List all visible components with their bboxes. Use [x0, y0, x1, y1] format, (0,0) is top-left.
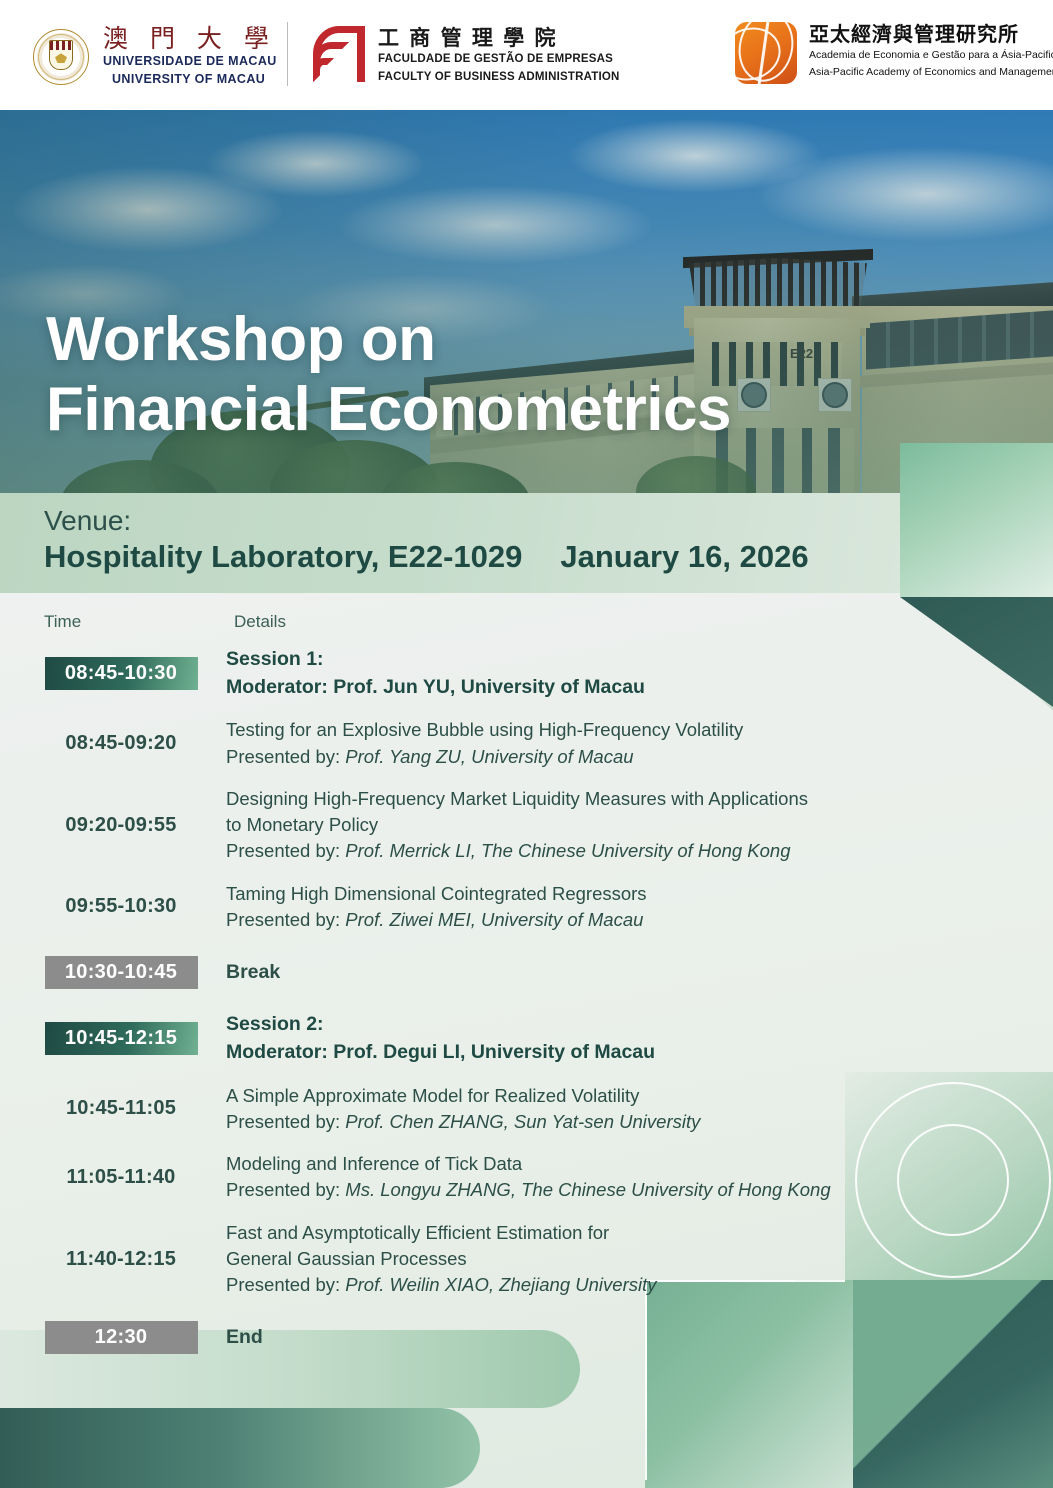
- logo-university-of-macau: 澳 門 大 學 UNIVERSIDADE DE MACAU UNIVERSITY…: [33, 26, 277, 89]
- row-details-cell: Taming High Dimensional Cointegrated Reg…: [226, 881, 1053, 934]
- row-details-cell: Modeling and Inference of Tick DataPrese…: [226, 1151, 1053, 1204]
- talk-presenter: Presented by: Prof. Chen ZHANG, Sun Yat-…: [226, 1109, 1023, 1135]
- row-spacer: [0, 933, 1053, 949]
- talk-presenter: Presented by: Ms. Longyu ZHANG, The Chin…: [226, 1177, 1023, 1203]
- table-row: 08:45-10:30Session 1:Moderator: Prof. Ju…: [0, 646, 1053, 701]
- session-moderator: Moderator: Prof. Degui LI, University of…: [226, 1039, 1023, 1067]
- venue-place: Hospitality Laboratory, E22-1029: [44, 539, 522, 575]
- header-logo-bar: 澳 門 大 學 UNIVERSIDADE DE MACAU UNIVERSITY…: [0, 0, 1053, 110]
- talk-time: 11:05-11:40: [67, 1166, 176, 1189]
- row-details-cell: Break: [226, 961, 1053, 984]
- row-time-cell: 08:45-09:20: [36, 732, 206, 755]
- session-moderator: Moderator: Prof. Jun YU, University of M…: [226, 674, 1023, 702]
- session-time-badge: 08:45-10:30: [45, 657, 198, 690]
- break-label: End: [226, 1326, 1023, 1349]
- venue-label: Venue:: [44, 505, 131, 537]
- row-spacer: [0, 1135, 1053, 1151]
- apaem-logo-portuguese: Academia de Economia e Gestão para a Ási…: [809, 47, 1053, 64]
- presented-by-label: Presented by:: [226, 840, 345, 861]
- row-time-cell: 11:40-12:15: [36, 1248, 206, 1271]
- row-time-cell: 12:30: [36, 1321, 206, 1354]
- column-header-time: Time: [44, 612, 214, 632]
- talk-title: Designing High-Frequency Market Liquidit…: [226, 786, 1023, 812]
- row-details-cell: End: [226, 1326, 1053, 1349]
- break-label: Break: [226, 961, 1023, 984]
- header-divider: [287, 22, 288, 86]
- session-time-badge: 10:45-12:15: [45, 1022, 198, 1055]
- row-spacer: [0, 701, 1053, 717]
- apaem-logo-english: Asia-Pacific Academy of Economics and Ma…: [809, 64, 1053, 81]
- talk-presenter: Presented by: Prof. Yang ZU, University …: [226, 744, 1023, 770]
- row-time-cell: 11:05-11:40: [36, 1166, 206, 1189]
- row-details-cell: A Simple Approximate Model for Realized …: [226, 1083, 1053, 1136]
- talk-presenter: Presented by: Prof. Weilin XIAO, Zhejian…: [226, 1272, 1023, 1298]
- apaem-globe-icon: [735, 22, 797, 84]
- presented-by-label: Presented by:: [226, 746, 345, 767]
- row-time-cell: 10:30-10:45: [36, 956, 206, 989]
- presenter-name-affiliation: Prof. Merrick LI, The Chinese University…: [345, 840, 790, 861]
- row-time-cell: 08:45-10:30: [36, 657, 206, 690]
- um-logo-english: UNIVERSITY OF MACAU: [112, 70, 277, 88]
- um-logo-chinese: 澳 門 大 學: [103, 26, 277, 52]
- talk-title-continued: General Gaussian Processes: [226, 1246, 1023, 1272]
- row-spacer: [0, 1067, 1053, 1083]
- row-details-cell: Designing High-Frequency Market Liquidit…: [226, 786, 1053, 865]
- logo-asia-pacific-academy: 亞太經濟與管理研究所 Academia de Economia e Gestão…: [735, 22, 1053, 84]
- presenter-name-affiliation: Ms. Longyu ZHANG, The Chinese University…: [345, 1179, 830, 1200]
- table-row: 09:55-10:30Taming High Dimensional Coint…: [0, 881, 1053, 934]
- table-row: 11:40-12:15Fast and Asymptotically Effic…: [0, 1220, 1053, 1299]
- fba-bar: [357, 26, 365, 82]
- venue-band: Venue: Hospitality Laboratory, E22-1029 …: [0, 493, 1053, 593]
- logo-faculty-of-business-administration: 工 商 管 理 學 院 FACULDADE DE GESTÃO DE EMPRE…: [313, 26, 620, 87]
- session-title: Session 1:: [226, 646, 1023, 674]
- presented-by-label: Presented by:: [226, 909, 345, 930]
- table-row: 10:45-11:05A Simple Approximate Model fo…: [0, 1083, 1053, 1136]
- fba-logo-chinese: 工 商 管 理 學 院: [378, 26, 620, 51]
- row-details-cell: Fast and Asymptotically Efficient Estima…: [226, 1220, 1053, 1299]
- row-time-cell: 10:45-11:05: [36, 1097, 206, 1120]
- talk-title: Taming High Dimensional Cointegrated Reg…: [226, 881, 1023, 907]
- break-time-badge: 12:30: [45, 1321, 198, 1354]
- page-title-line-1: Workshop on: [46, 305, 731, 375]
- presenter-name-affiliation: Prof. Yang ZU, University of Macau: [345, 746, 633, 767]
- row-spacer: [0, 770, 1053, 786]
- talk-title: Fast and Asymptotically Efficient Estima…: [226, 1220, 1023, 1246]
- table-row: 11:05-11:40Modeling and Inference of Tic…: [0, 1151, 1053, 1204]
- table-row: 10:30-10:45Break: [0, 949, 1053, 995]
- page-title: Workshop on Financial Econometrics: [46, 305, 731, 445]
- fba-arcs-icon: [313, 26, 365, 82]
- table-row: 10:45-12:15Session 2:Moderator: Prof. De…: [0, 1011, 1053, 1066]
- decoration-square-hero: [900, 443, 1053, 597]
- table-row: 08:45-09:20Testing for an Explosive Bubb…: [0, 717, 1053, 770]
- talk-presenter: Presented by: Prof. Merrick LI, The Chin…: [226, 838, 1023, 864]
- schedule-header-row: Time Details: [0, 612, 1053, 646]
- table-row: 09:20-09:55Designing High-Frequency Mark…: [0, 786, 1053, 865]
- row-spacer: [0, 1298, 1053, 1314]
- presented-by-label: Presented by:: [226, 1179, 345, 1200]
- presented-by-label: Presented by:: [226, 1274, 345, 1295]
- venue-details: Hospitality Laboratory, E22-1029 January…: [44, 539, 809, 575]
- row-time-cell: 10:45-12:15: [36, 1022, 206, 1055]
- apaem-logo-chinese: 亞太經濟與管理研究所: [809, 22, 1053, 47]
- fba-logo-english: FACULTY OF BUSINESS ADMINISTRATION: [378, 69, 620, 87]
- talk-title-continued: to Monetary Policy: [226, 812, 1023, 838]
- table-row: 12:30End: [0, 1314, 1053, 1360]
- fba-arc-inner: [313, 58, 334, 82]
- schedule-table: Time Details 08:45-10:30Session 1:Modera…: [0, 612, 1053, 1360]
- presenter-name-affiliation: Prof. Chen ZHANG, Sun Yat-sen University: [345, 1111, 700, 1132]
- row-spacer: [0, 995, 1053, 1011]
- talk-time: 09:55-10:30: [65, 895, 176, 918]
- talk-time: 09:20-09:55: [65, 814, 176, 837]
- talk-title: Modeling and Inference of Tick Data: [226, 1151, 1023, 1177]
- um-logo-portuguese: UNIVERSIDADE DE MACAU: [103, 52, 277, 70]
- row-time-cell: 09:20-09:55: [36, 814, 206, 837]
- talk-time: 11:40-12:15: [66, 1248, 176, 1271]
- talk-title: A Simple Approximate Model for Realized …: [226, 1083, 1023, 1109]
- session-title: Session 2:: [226, 1011, 1023, 1039]
- row-details-cell: Session 1:Moderator: Prof. Jun YU, Unive…: [226, 646, 1053, 701]
- row-details-cell: Session 2:Moderator: Prof. Degui LI, Uni…: [226, 1011, 1053, 1066]
- um-crest-icon: [33, 29, 89, 85]
- presenter-name-affiliation: Prof. Weilin XIAO, Zhejiang University: [345, 1274, 656, 1295]
- page-title-line-2: Financial Econometrics: [46, 375, 731, 445]
- talk-time: 10:45-11:05: [66, 1097, 176, 1120]
- presenter-name-affiliation: Prof. Ziwei MEI, University of Macau: [345, 909, 643, 930]
- row-time-cell: 09:55-10:30: [36, 895, 206, 918]
- row-details-cell: Testing for an Explosive Bubble using Hi…: [226, 717, 1053, 770]
- crest-shield: [49, 40, 73, 70]
- talk-time: 08:45-09:20: [65, 732, 176, 755]
- presented-by-label: Presented by:: [226, 1111, 345, 1132]
- fba-logo-portuguese: FACULDADE DE GESTÃO DE EMPRESAS: [378, 51, 620, 69]
- row-spacer: [0, 1204, 1053, 1220]
- talk-presenter: Presented by: Prof. Ziwei MEI, Universit…: [226, 907, 1023, 933]
- schedule-rows: 08:45-10:30Session 1:Moderator: Prof. Ju…: [0, 646, 1053, 1360]
- break-time-badge: 10:30-10:45: [45, 956, 198, 989]
- event-date: January 16, 2026: [560, 539, 808, 575]
- talk-title: Testing for an Explosive Bubble using Hi…: [226, 717, 1023, 743]
- row-spacer: [0, 865, 1053, 881]
- column-header-details: Details: [234, 612, 286, 632]
